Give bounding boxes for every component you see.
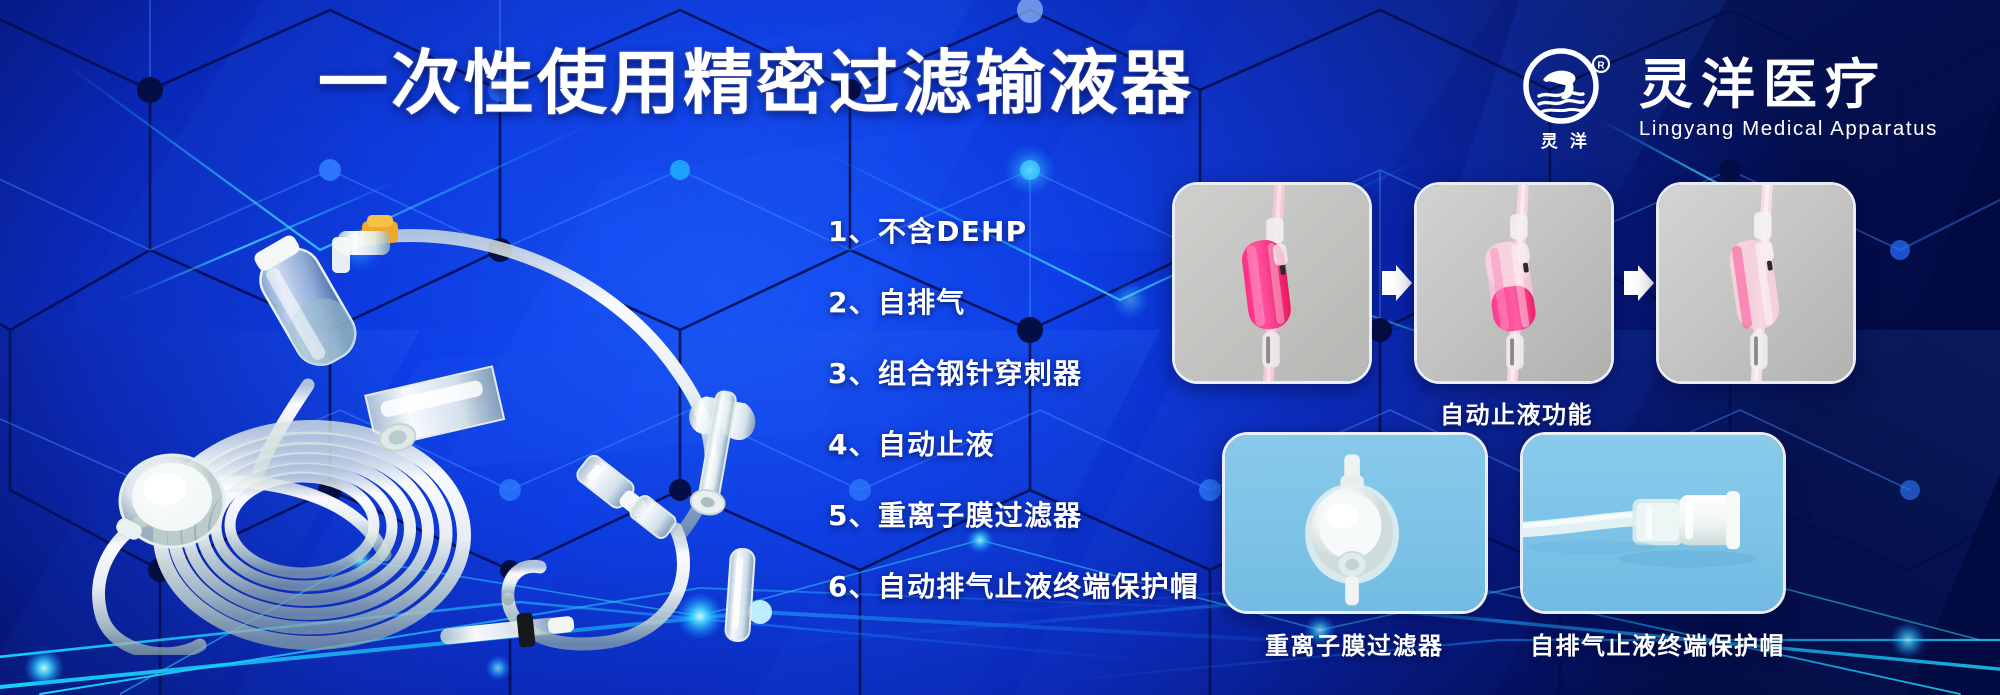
caption-auto-stop: 自动止液功能 — [1440, 395, 1593, 430]
logo-emblem: R 灵洋 — [1513, 46, 1617, 152]
endcap-photo-card — [1520, 432, 1786, 614]
product-photo — [40, 185, 780, 655]
caption-filter: 重离子膜过滤器 — [1265, 626, 1444, 661]
feature-item-5: 5、重离子膜过滤器 — [828, 502, 1199, 530]
feature-item-3: 3、组合钢针穿刺器 — [828, 360, 1199, 388]
auto-stop-photo-2 — [1414, 182, 1614, 384]
brand-logo: R 灵洋 灵洋医疗 Lingyang Medical Apparatus — [1513, 46, 1938, 152]
feature-item-6: 6、自动排气止液终端保护帽 — [828, 573, 1199, 601]
chevron-right-arrow-icon-2 — [1622, 263, 1656, 303]
auto-stop-photo-1 — [1172, 182, 1372, 384]
feature-item-1: 1、不含DEHP — [828, 218, 1199, 246]
caption-endcap: 自排气止液终端保护帽 — [1530, 626, 1785, 661]
feature-item-2: 2、自排气 — [828, 289, 1199, 317]
brand-name-block: 灵洋医疗 Lingyang Medical Apparatus — [1639, 57, 1938, 140]
filter-photo-card — [1222, 432, 1488, 614]
logo-mark-subtext: 灵洋 — [1513, 127, 1617, 152]
svg-text:R: R — [1597, 61, 1605, 72]
page-title: 一次性使用精密过滤输液器 — [318, 48, 1194, 118]
product-banner: 一次性使用精密过滤输液器 R 灵洋 灵洋医疗 Lingyang Medical … — [0, 0, 2000, 695]
lingyang-circular-emblem-icon: R — [1513, 46, 1617, 126]
brand-name-chinese: 灵洋医疗 — [1639, 57, 1938, 112]
feature-list: 1、不含DEHP 2、自排气 3、组合钢针穿刺器 4、自动止液 5、重离子膜过滤… — [828, 218, 1199, 601]
infusion-set-illustration — [40, 185, 780, 655]
brand-name-english: Lingyang Medical Apparatus — [1639, 117, 1938, 141]
feature-item-4: 4、自动止液 — [828, 431, 1199, 459]
auto-stop-photo-3 — [1656, 182, 1856, 384]
chevron-right-arrow-icon-1 — [1380, 263, 1414, 303]
